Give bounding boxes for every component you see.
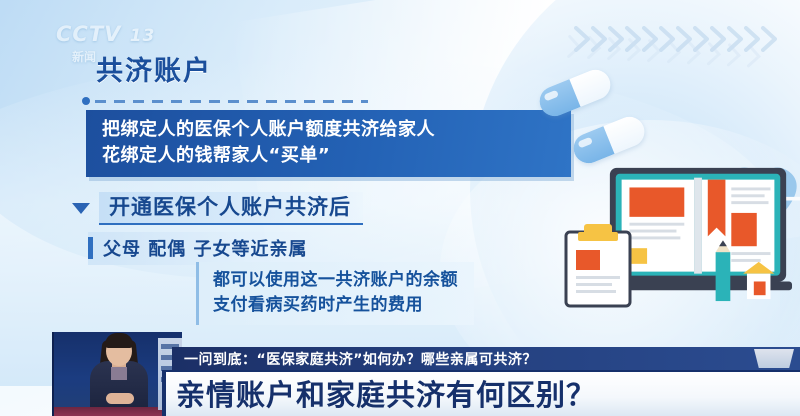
headline-edge-accent (162, 372, 166, 416)
relatives-text: 父母 配偶 子女等近亲属 (103, 235, 308, 261)
bullet-dot-icon (82, 97, 90, 105)
clipboard-icon (564, 224, 632, 308)
secondary-statement-line-2: 支付看病买药时产生的费用 (213, 293, 458, 318)
tv-broadcast-frame: CCTV 13 新闻 共济账户 把绑定人的医保个人账户额度共济给家人 花绑定人的… (0, 0, 800, 416)
headline-text: 亲情账户和家庭共济有何区别？ (162, 381, 596, 410)
capsule-pill-icon-2 (569, 112, 649, 168)
chevron-arrows-icon (572, 22, 782, 56)
dashed-rule (95, 100, 368, 103)
slide-title: 共济账户 (96, 58, 212, 85)
triangle-down-icon (72, 203, 90, 214)
ticker-text: 一问到底：“医保家庭共济”如何办？哪些亲属可共济？ (172, 349, 537, 369)
cctv-logo: CCTV 13 (56, 24, 176, 45)
open-book-icon (600, 162, 796, 304)
primary-statement-box: 把绑定人的医保个人账户额度共济给家人 花绑定人的钱帮家人“买单” (86, 110, 571, 177)
cctv-logo-number: 13 (130, 26, 156, 46)
primary-statement-line-1: 把绑定人的医保个人账户额度共济给家人 (102, 117, 557, 143)
secondary-statement-line-1: 都可以使用这一共济账户的余额 (213, 268, 458, 293)
program-logo-icon (754, 349, 794, 368)
illustration-group (500, 0, 800, 360)
lower-third-ticker: 一问到底：“医保家庭共济”如何办？哪些亲属可共济？ (172, 347, 800, 370)
accent-bar (88, 237, 93, 259)
chevron-arrows-secondary-icon (564, 32, 785, 73)
title-underline (82, 97, 368, 105)
lower-third-headline: 亲情账户和家庭共济有何区别？ (162, 370, 800, 416)
section-heading-text: 开通医保个人账户共济后 (99, 192, 363, 225)
section-heading-group: 开通医保个人账户共济后 (72, 192, 363, 225)
primary-statement-line-2: 花绑定人的钱帮家人“买单” (102, 143, 557, 169)
cctv-logo-text: CCTV (56, 22, 121, 46)
secondary-statement-box: 都可以使用这一共济账户的余额 支付看病买药时产生的费用 (196, 262, 474, 325)
heart-ecg-icon (716, 156, 800, 236)
relatives-row: 父母 配偶 子女等近亲属 (88, 232, 324, 265)
